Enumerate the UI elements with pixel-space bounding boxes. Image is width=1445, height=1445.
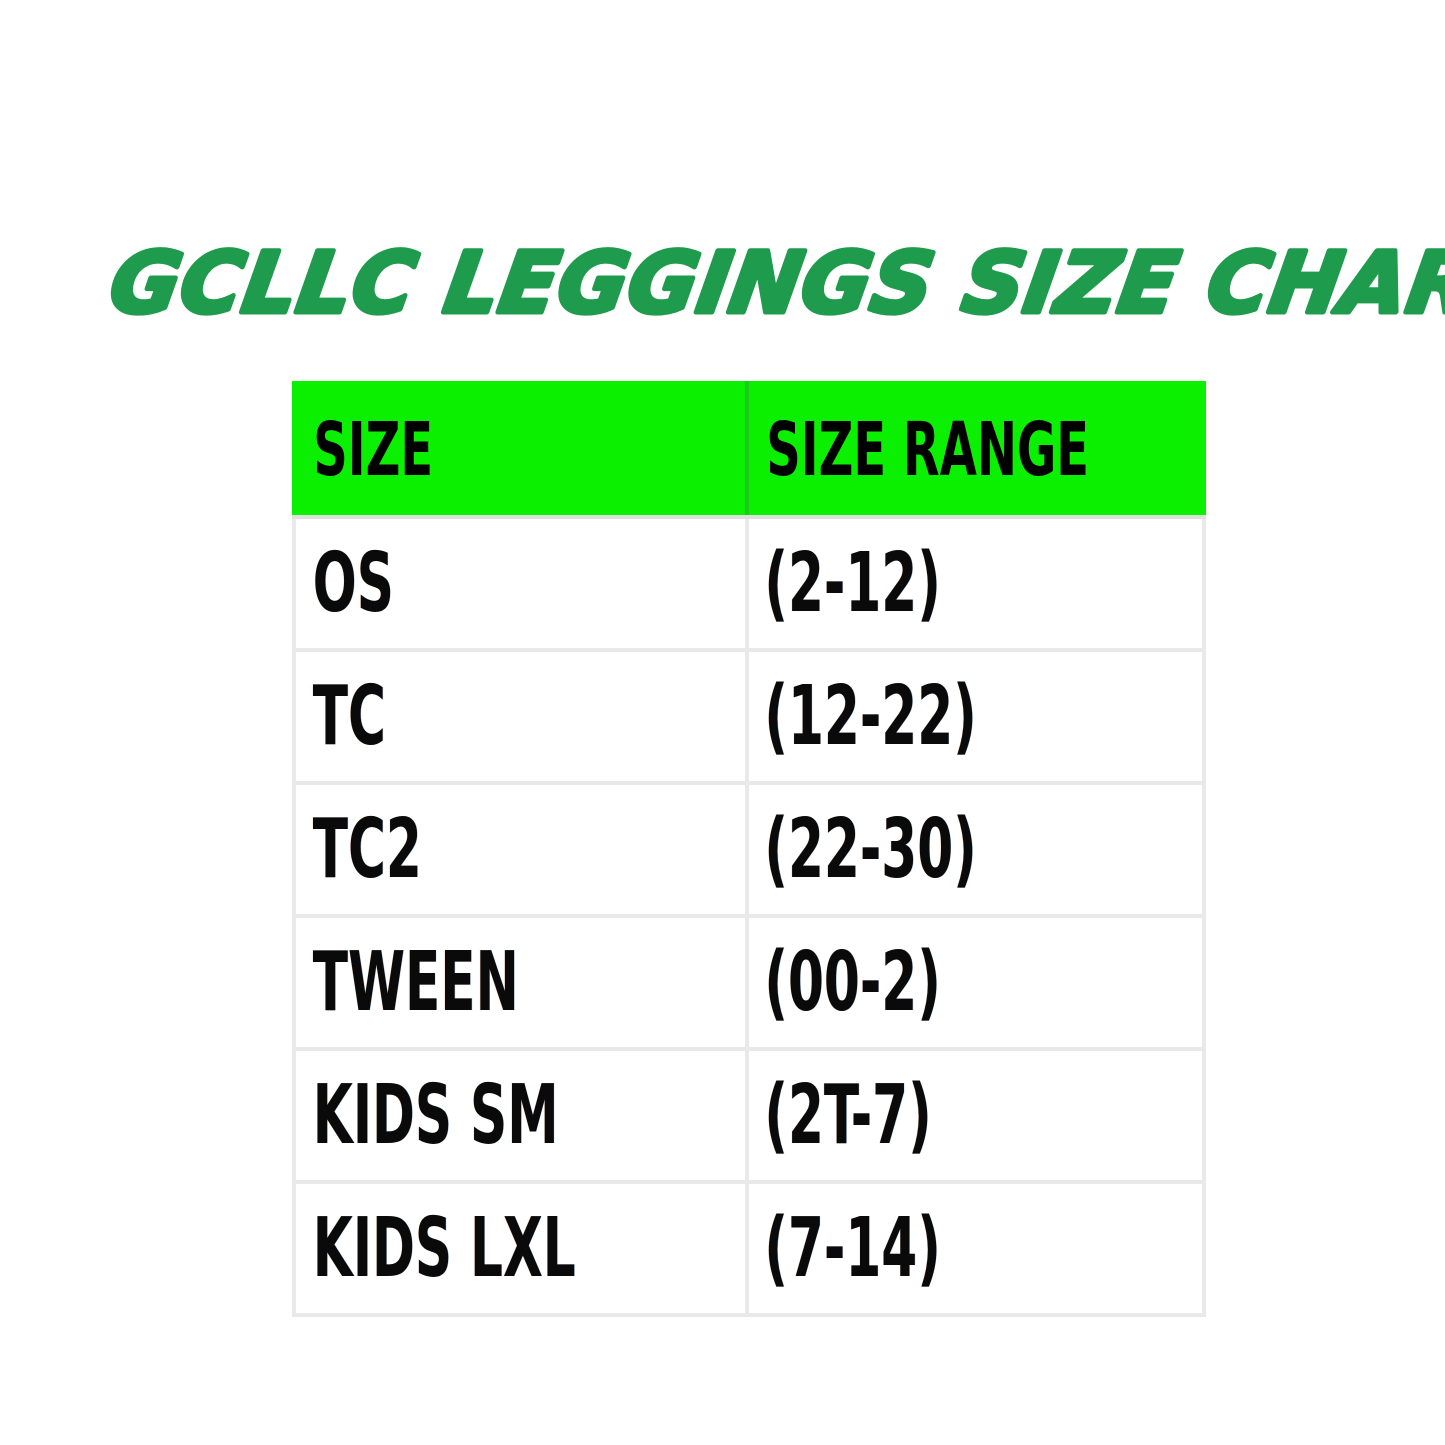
table-row: TC (12-22) (294, 650, 1204, 783)
size-value: KIDS SM (296, 1075, 610, 1157)
size-range-value: (00-2) (749, 942, 1066, 1024)
size-range-value: (12-22) (749, 676, 1066, 758)
table-row: OS (2-12) (294, 517, 1204, 650)
column-header-size-range: SIZE RANGE (747, 383, 1204, 517)
size-value: TWEEN (296, 942, 610, 1024)
page-title-text: GCLLC LEGGINGS SIZE CHART (104, 234, 1445, 331)
cell-size-range: (22-30) (747, 783, 1204, 916)
cell-size-range: (2-12) (747, 517, 1204, 650)
column-header-size: SIZE (294, 383, 747, 517)
cell-size: TC (294, 650, 747, 783)
table-row: KIDS SM (2T-7) (294, 1049, 1204, 1182)
size-value: KIDS LXL (296, 1208, 610, 1290)
table-row: KIDS LXL (7-14) (294, 1182, 1204, 1315)
cell-size-range: (12-22) (747, 650, 1204, 783)
column-header-size-label: SIZE (296, 413, 619, 487)
table-header: SIZE SIZE RANGE (294, 383, 1204, 517)
cell-size: OS (294, 517, 747, 650)
size-value: TC2 (296, 809, 610, 891)
page-title: GCLLC LEGGINGS SIZE CHART (0, 196, 1445, 356)
page-title-artwork: GCLLC LEGGINGS SIZE CHART (0, 196, 1445, 356)
size-value: OS (296, 543, 610, 625)
size-range-value: (7-14) (749, 1208, 1066, 1290)
cell-size: TWEEN (294, 916, 747, 1049)
size-range-value: (22-30) (749, 809, 1066, 891)
size-range-value: (2T-7) (749, 1075, 1066, 1157)
table-row: TWEEN (00-2) (294, 916, 1204, 1049)
size-range-value: (2-12) (749, 543, 1066, 625)
table-header-row: SIZE SIZE RANGE (294, 383, 1204, 517)
size-value: TC (296, 676, 610, 758)
cell-size-range: (00-2) (747, 916, 1204, 1049)
cell-size: KIDS LXL (294, 1182, 747, 1315)
cell-size: KIDS SM (294, 1049, 747, 1182)
column-header-size-range-label: SIZE RANGE (749, 413, 1075, 487)
cell-size: TC2 (294, 783, 747, 916)
cell-size-range: (2T-7) (747, 1049, 1204, 1182)
table-row: TC2 (22-30) (294, 783, 1204, 916)
table-body: OS (2-12) TC (12-22) TC2 (22-30) TW (294, 517, 1204, 1315)
cell-size-range: (7-14) (747, 1182, 1204, 1315)
size-chart-table: SIZE SIZE RANGE OS (2-12) TC (12-22) (292, 381, 1206, 1317)
